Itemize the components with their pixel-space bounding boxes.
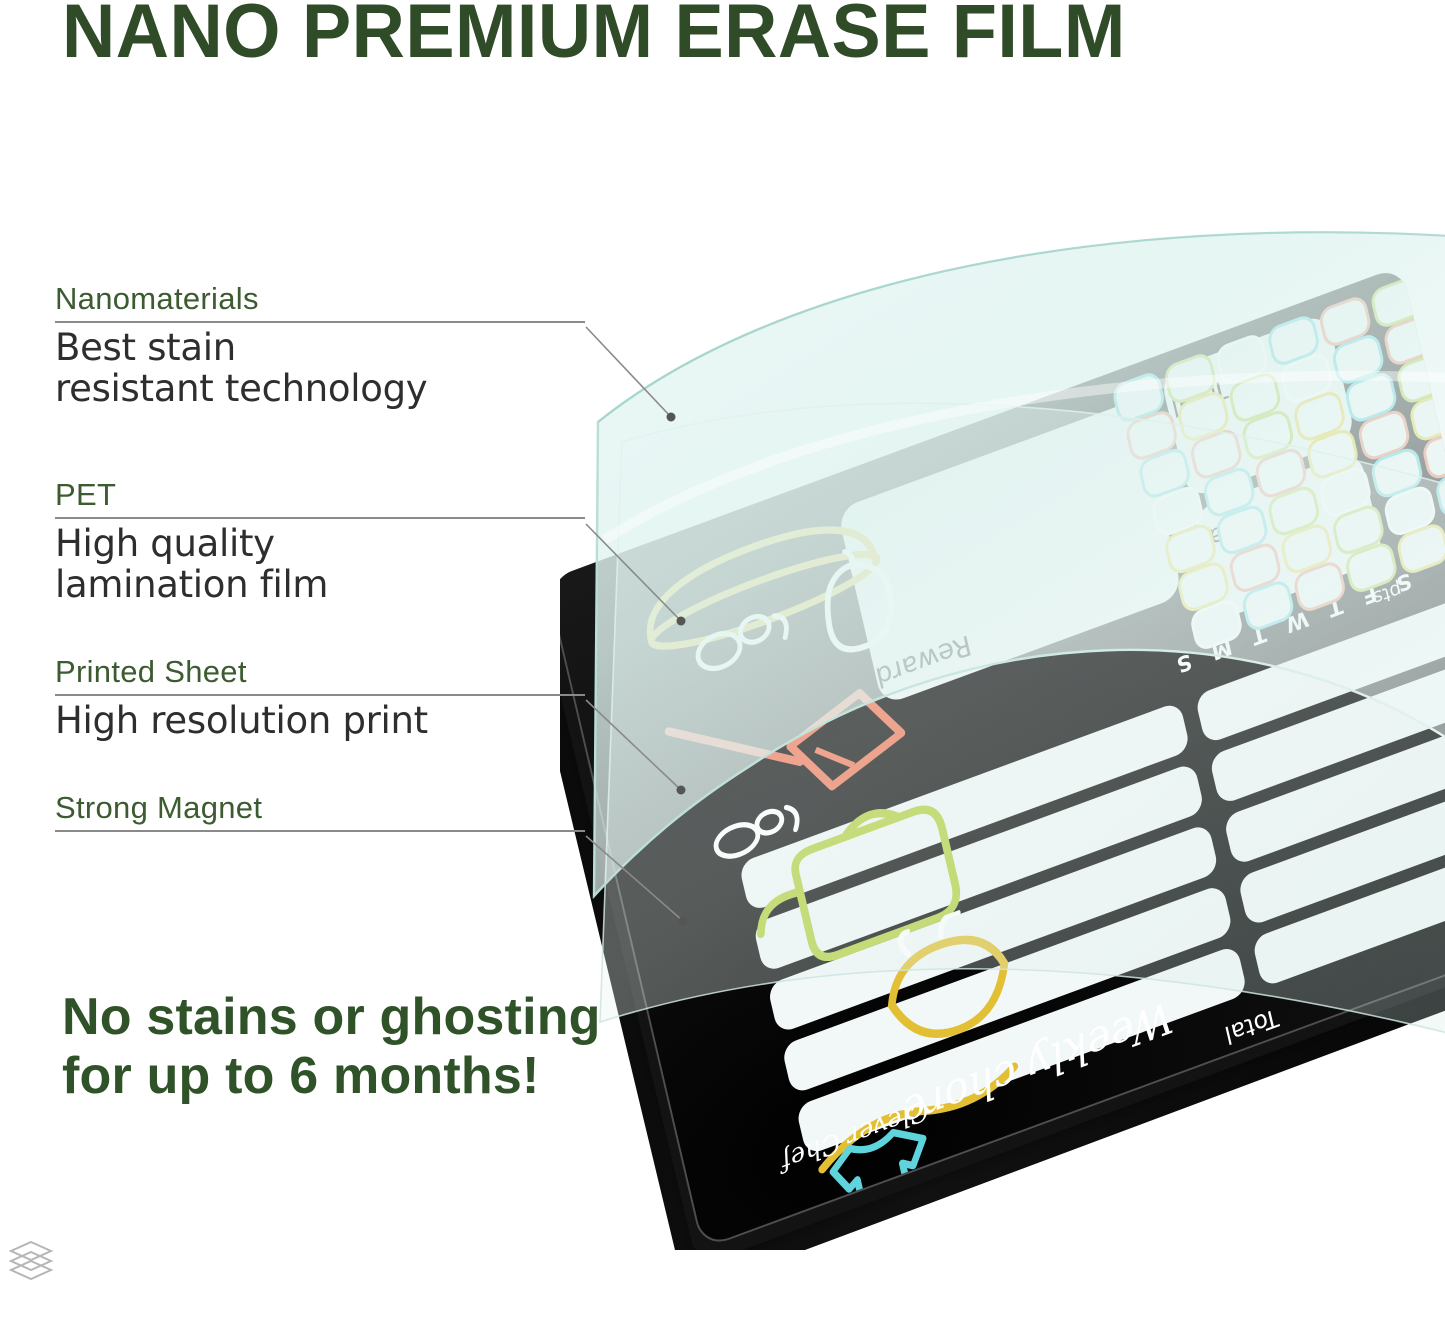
callout-label: Nanomaterials bbox=[55, 283, 595, 316]
callout-body: Best stain resistant technology bbox=[55, 327, 595, 410]
tagline: No stains or ghosting for up to 6 months… bbox=[62, 988, 601, 1106]
check-cell[interactable] bbox=[1398, 524, 1445, 573]
callout-label: PET bbox=[55, 479, 595, 512]
callout-body-line: lamination film bbox=[55, 564, 595, 605]
callout-body-line: resistant technology bbox=[55, 368, 595, 409]
callout-rule bbox=[55, 321, 585, 323]
callout-pet: PET High quality lamination film bbox=[55, 479, 595, 605]
check-cell[interactable] bbox=[1398, 354, 1445, 403]
tagline-line: for up to 6 months! bbox=[62, 1047, 601, 1106]
callout-body-line: High resolution print bbox=[55, 700, 595, 741]
page-title: NANO PREMIUM ERASE FILM bbox=[62, 0, 1401, 70]
tagline-line: No stains or ghosting bbox=[62, 988, 601, 1047]
check-cell[interactable] bbox=[1437, 297, 1445, 346]
infographic-canvas: NANO PREMIUM ERASE FILM Reward Total Goa… bbox=[0, 0, 1445, 1321]
callout-label: Printed Sheet bbox=[55, 656, 595, 689]
callout-body-line: High quality bbox=[55, 523, 595, 564]
callout-rule bbox=[55, 830, 585, 832]
check-cell[interactable] bbox=[1385, 316, 1434, 365]
callout-body: High resolution print bbox=[55, 700, 595, 741]
callout-label: Strong Magnet bbox=[55, 792, 595, 825]
callout-rule bbox=[55, 694, 585, 696]
callout-rule bbox=[55, 517, 585, 519]
check-cell[interactable] bbox=[1411, 392, 1445, 441]
callout-body-line: Best stain bbox=[55, 327, 595, 368]
callout-nanomaterials: Nanomaterials Best stain resistant techn… bbox=[55, 283, 595, 409]
day-header: S bbox=[1174, 649, 1194, 678]
callout-body: High quality lamination film bbox=[55, 523, 595, 606]
callout-printed-sheet: Printed Sheet High resolution print bbox=[55, 656, 595, 741]
layers-icon bbox=[8, 1238, 54, 1282]
product-photo: Reward Total Goal pts SFTWTMS bbox=[560, 190, 1445, 1250]
callout-strong-magnet: Strong Magnet bbox=[55, 792, 595, 832]
check-cell[interactable] bbox=[1424, 266, 1445, 308]
chore-board: Reward Total Goal pts SFTWTMS bbox=[560, 266, 1445, 1247]
